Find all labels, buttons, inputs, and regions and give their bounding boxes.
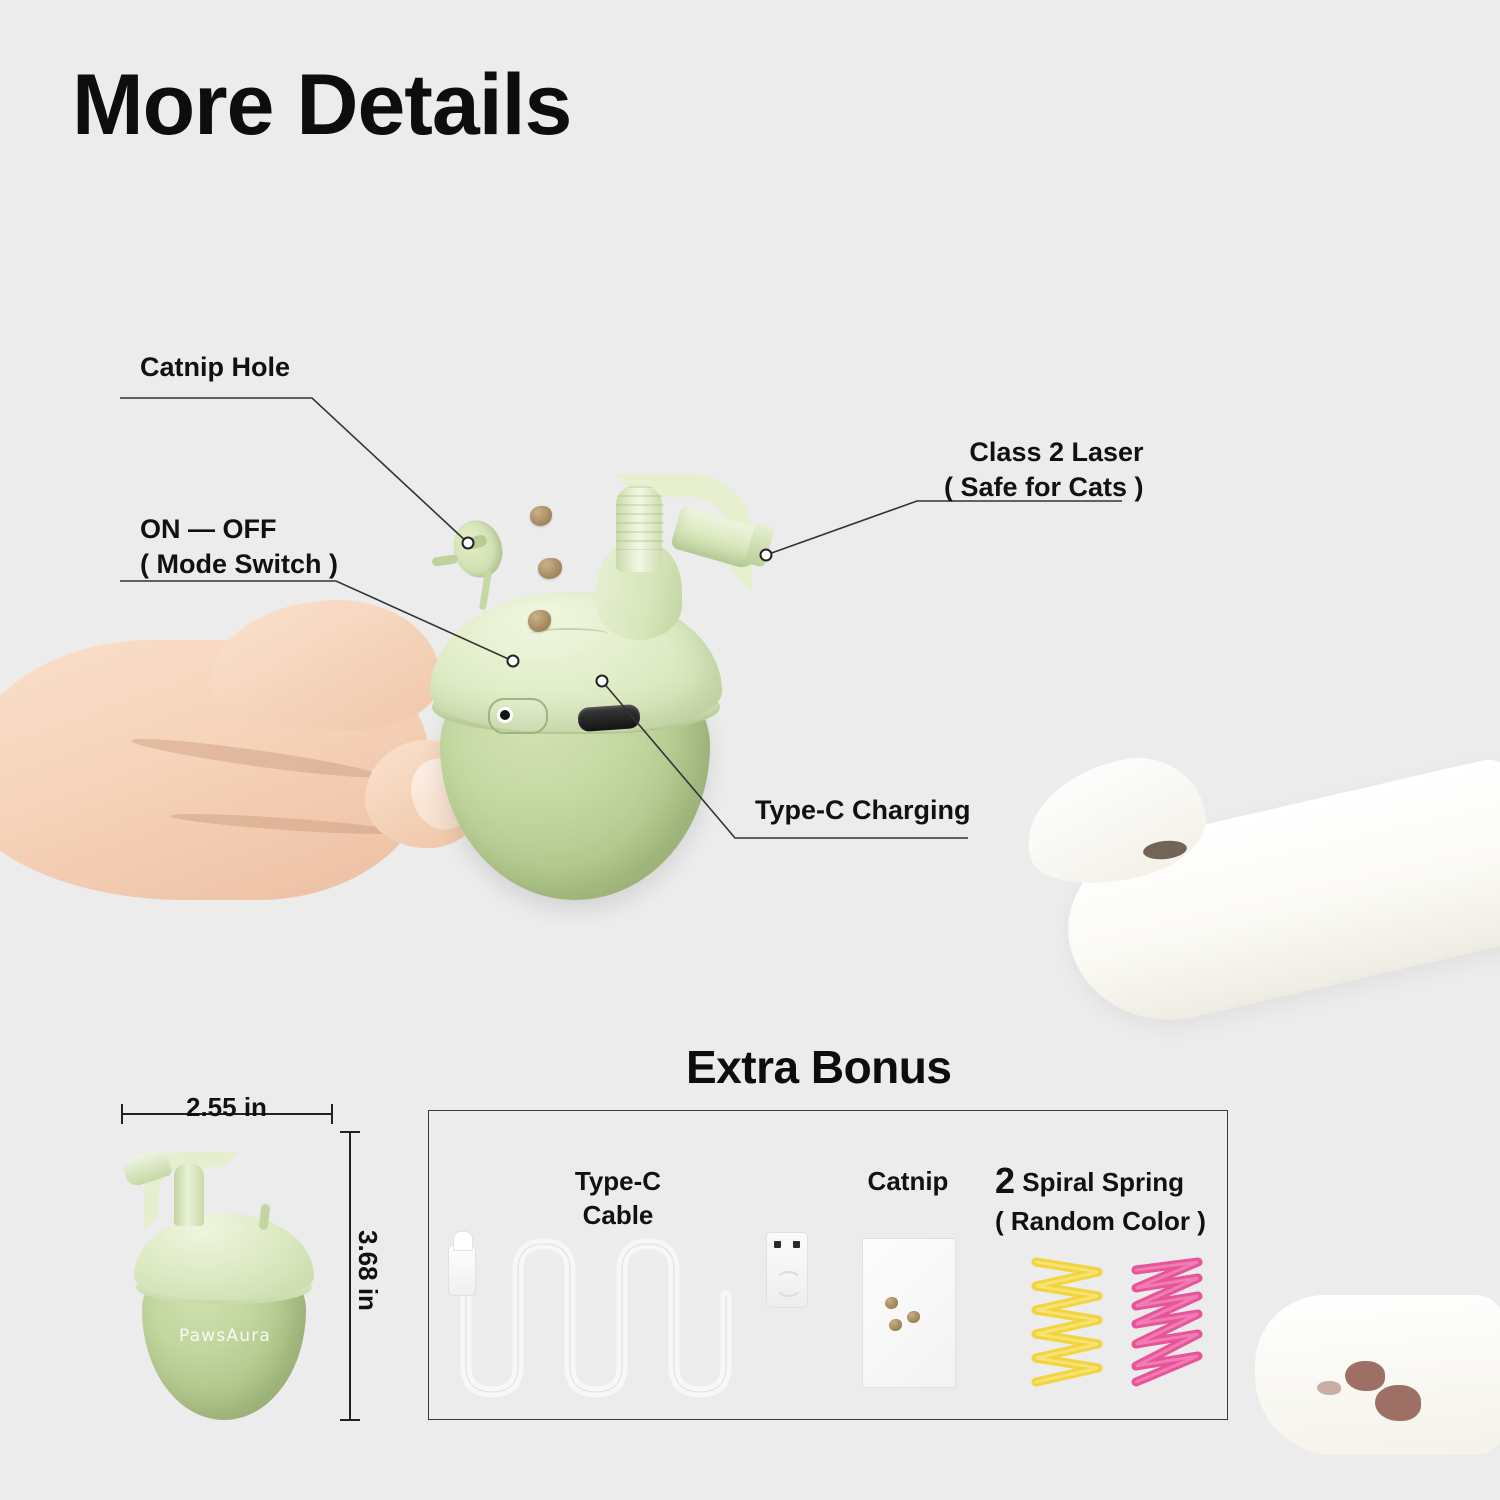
bonus-item-label-catnip: Catnip	[862, 1165, 954, 1199]
mode-switch-control[interactable]	[488, 698, 548, 734]
dimension-height-label: 3.68 in	[352, 1230, 383, 1311]
callout-laser: Class 2 Laser ( Safe for Cats )	[944, 435, 1144, 504]
usb-a-pins	[774, 1241, 800, 1251]
callout-catnip-hole: Catnip Hole	[140, 350, 290, 385]
callout-label-line2: ( Mode Switch )	[140, 547, 338, 582]
cat-paw-bottom	[1255, 1285, 1500, 1500]
catnip-grain	[538, 558, 562, 579]
bonus-item-label-spring: 2 Spiral Spring ( Random Color )	[995, 1158, 1210, 1239]
bonus-item-label-cable: Type-C Cable	[538, 1165, 698, 1233]
catnip-lid-tab	[432, 554, 459, 567]
catnip-seed	[885, 1297, 898, 1309]
brand-logo: PawsAura	[120, 1326, 330, 1346]
bonus-section-title: Extra Bonus	[686, 1040, 951, 1094]
spring-note: ( Random Color )	[995, 1205, 1210, 1239]
page-title: More Details	[72, 62, 571, 148]
usb-a-connector	[766, 1232, 808, 1308]
cable-wire	[448, 1226, 808, 1406]
type-c-cable-illustration	[448, 1226, 808, 1406]
dimension-width-label: 2.55 in	[186, 1092, 267, 1123]
product-device-main	[410, 470, 790, 930]
spiral-spring-yellow	[1028, 1248, 1106, 1398]
callout-label-line1: Class 2 Laser	[944, 435, 1144, 470]
cat-toe-bean	[1375, 1385, 1421, 1421]
product-device-small: PawsAura	[120, 1130, 330, 1430]
callout-mode-switch: ON — OFF ( Mode Switch )	[140, 512, 338, 581]
catnip-seed	[907, 1311, 920, 1323]
spiral-spring-pink	[1128, 1248, 1206, 1398]
catnip-seed	[889, 1319, 902, 1331]
cat-paw-top	[1015, 735, 1500, 1065]
spring-name: Spiral Spring	[1022, 1167, 1184, 1197]
spring-label-line1: 2 Spiral Spring	[995, 1158, 1210, 1205]
callout-label-line1: ON — OFF	[140, 512, 338, 547]
callout-label: Catnip Hole	[140, 350, 290, 385]
spring-count: 2	[995, 1160, 1015, 1201]
catnip-sachet	[862, 1238, 956, 1388]
laser-tube-vertical	[174, 1164, 204, 1226]
type-c-port[interactable]	[577, 704, 641, 732]
callout-label: Type-C Charging	[755, 793, 971, 828]
cat-toe-bean	[1345, 1361, 1385, 1391]
hand-thumb	[210, 600, 440, 730]
usb-c-connector	[448, 1244, 476, 1296]
catnip-hole-lid[interactable]	[447, 515, 509, 584]
cat-toe-bean	[1317, 1381, 1341, 1395]
usb-logo-icon	[775, 1271, 803, 1297]
laser-tube-ridges	[616, 486, 664, 550]
infographic-canvas: More Details	[0, 0, 1500, 1500]
catnip-grain	[530, 506, 552, 526]
callout-type-c: Type-C Charging	[755, 793, 971, 828]
callout-label-line2: ( Safe for Cats )	[944, 470, 1144, 505]
